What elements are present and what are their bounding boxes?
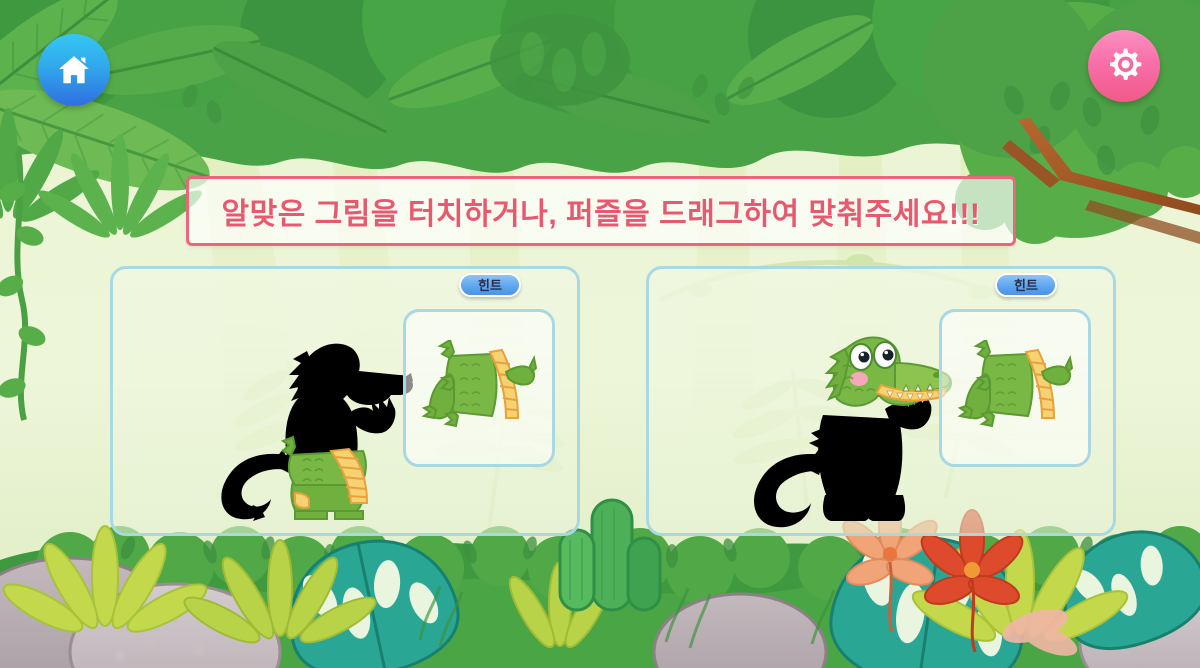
hint-button-right[interactable]: 힌트 xyxy=(995,273,1057,297)
crocodile-body-piece-left xyxy=(420,340,538,436)
settings-button[interactable] xyxy=(1088,30,1160,102)
hint-button-label: 힌트 xyxy=(478,279,502,292)
crocodile-figure-left[interactable] xyxy=(191,305,421,533)
instruction-banner: 알맞은 그림을 터치하거나, 퍼즐을 드래그하여 맞춰주세요!!! xyxy=(186,176,1016,246)
gear-icon xyxy=(1104,46,1144,86)
puzzle-piece-slot-left[interactable] xyxy=(403,309,555,467)
hint-button-label: 힌트 xyxy=(1014,279,1038,292)
puzzle-panel-right[interactable]: 힌트 xyxy=(646,266,1116,536)
home-button[interactable] xyxy=(38,34,110,106)
home-icon xyxy=(55,51,93,89)
crocodile-figure-right[interactable] xyxy=(727,305,957,533)
instruction-text: 알맞은 그림을 터치하거나, 퍼즐을 드래그하여 맞춰주세요!!! xyxy=(222,189,981,233)
puzzle-panel-left[interactable]: 힌트 xyxy=(110,266,580,536)
crocodile-missing-head xyxy=(191,305,421,533)
hint-button-left[interactable]: 힌트 xyxy=(459,273,521,297)
crocodile-missing-body xyxy=(727,305,957,533)
game-screen: 알맞은 그림을 터치하거나, 퍼즐을 드래그하여 맞춰주세요!!! xyxy=(0,0,1200,668)
crocodile-body-piece-right xyxy=(956,340,1074,436)
puzzle-piece-slot-right[interactable] xyxy=(939,309,1091,467)
